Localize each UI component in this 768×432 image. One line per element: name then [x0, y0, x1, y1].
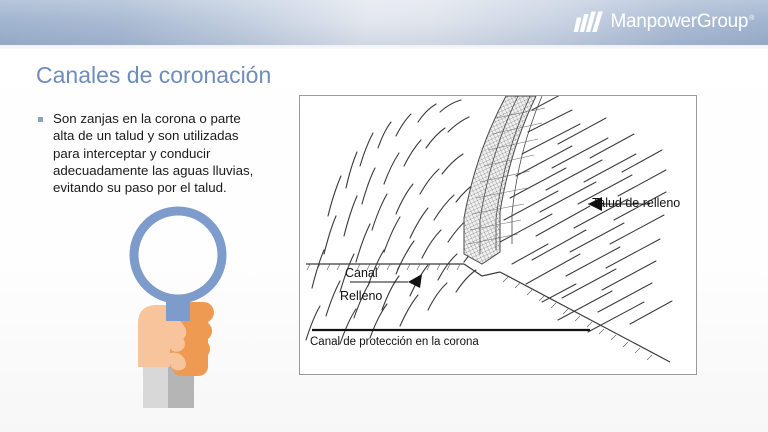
label-talud-de-relleno: Talud de relleno	[592, 196, 680, 210]
canal-band-fill	[464, 96, 536, 264]
bullet-list-item: Son zanjas en la corona o parte alta de …	[38, 110, 290, 196]
bullet-item-text: Son zanjas en la corona o parte alta de …	[53, 110, 253, 196]
sleeve-left-icon	[143, 364, 168, 408]
canal-de-coronacion-drawing	[300, 96, 696, 374]
slide-canvas: ManpowerGroup® Canales de coronación Son…	[0, 0, 768, 432]
diagram-figure: Canal Relleno Talud de relleno Canal de …	[299, 95, 697, 375]
magnifier-ring-icon	[134, 211, 222, 299]
left-slope-hatching	[306, 100, 490, 344]
diagram-caption: Canal de protección en la corona	[310, 336, 479, 348]
manpowergroup-bars-logo	[573, 11, 603, 33]
page-title: Canales de coronación	[36, 62, 271, 89]
header-underline	[0, 45, 768, 49]
logo-registered-mark: ®	[749, 15, 754, 22]
logo-wordmark-text: ManpowerGroup	[611, 11, 749, 32]
manpowergroup-logo: ManpowerGroup®	[573, 8, 754, 36]
bullet-marker-icon	[38, 117, 43, 122]
hand-holding-magnifying-glass-illustration	[112, 203, 244, 408]
logo-wordmark: ManpowerGroup®	[611, 11, 754, 33]
label-relleno: Relleno	[340, 289, 382, 303]
diagram-artwork	[306, 96, 672, 362]
right-slope-hatching	[500, 96, 672, 332]
label-canal: Canal	[345, 266, 378, 280]
